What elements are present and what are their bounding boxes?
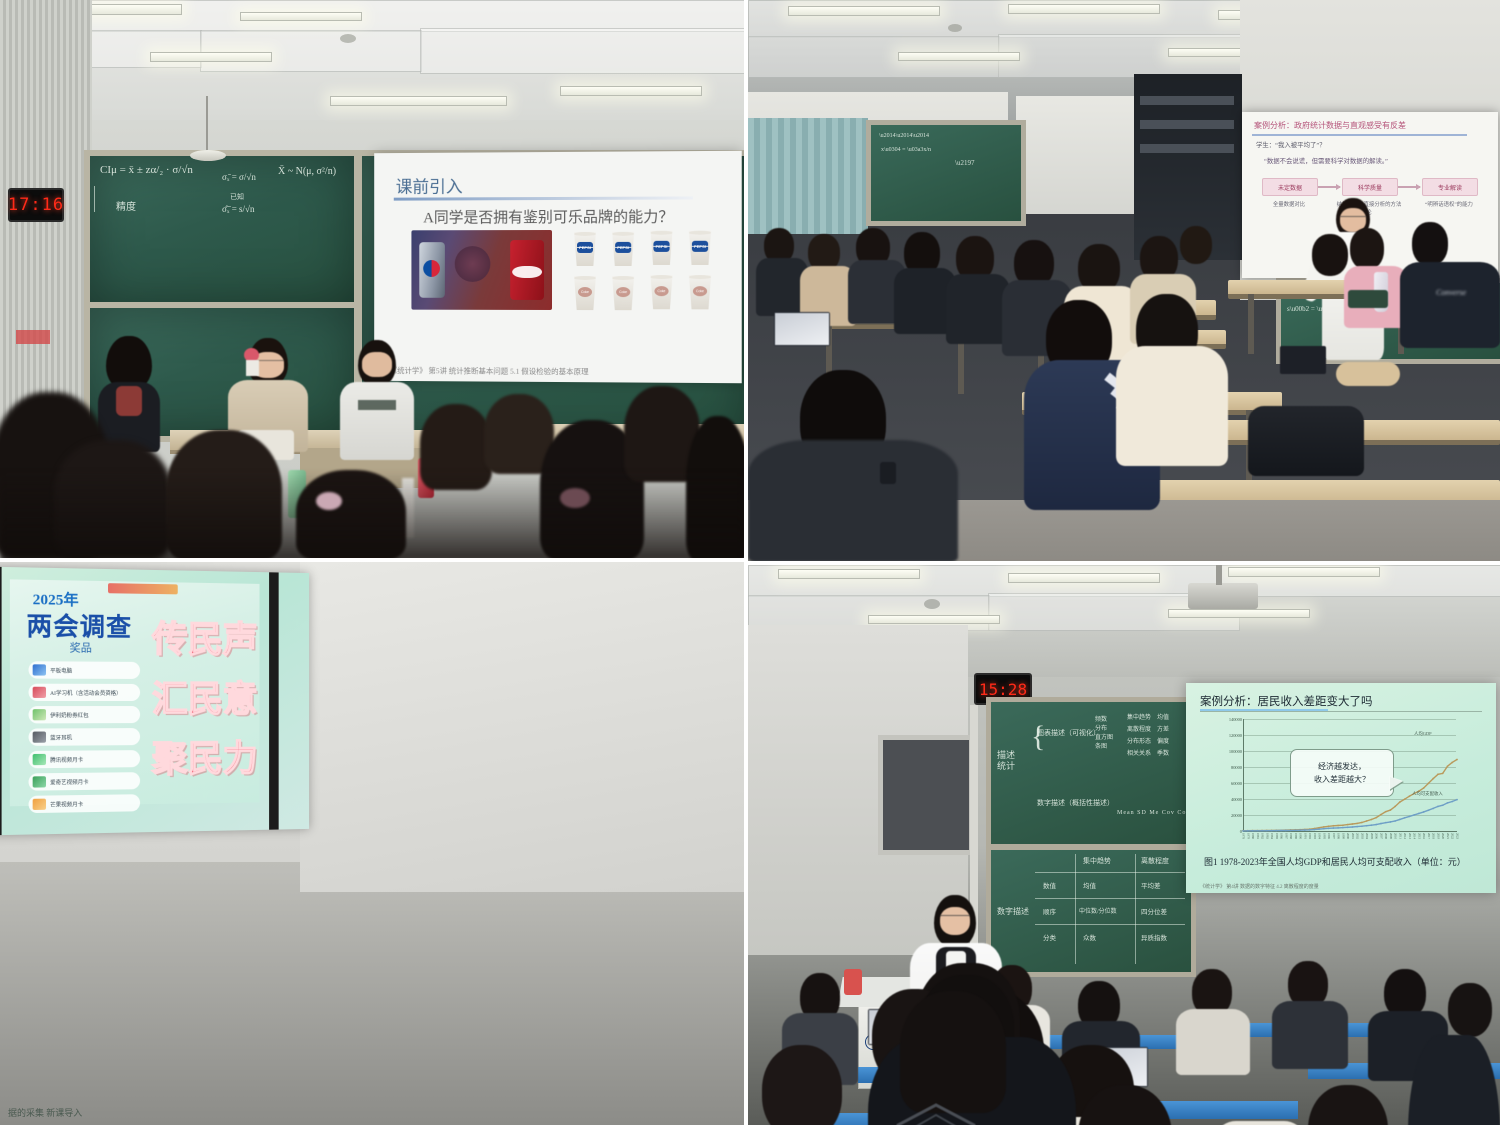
student-head-front — [900, 991, 1006, 1113]
wall-clock-tl: 17:16 — [8, 188, 64, 222]
x-tick: 2016 — [1422, 833, 1426, 839]
cola-photo — [411, 230, 552, 310]
thermos — [844, 969, 862, 995]
cup-logo-pepsi: PEPSI — [653, 241, 669, 252]
student-head — [1448, 983, 1492, 1037]
x-tick: 2008 — [1384, 833, 1388, 839]
slide-title-tl: 课前引入 — [396, 173, 463, 198]
slogan-line-2: 汇民意 — [152, 670, 258, 722]
x-tick: 1997 — [1332, 833, 1336, 839]
income-gap-chart: 140000 120000 100000 80000 60000 40000 2… — [1216, 719, 1466, 847]
student-head — [1350, 228, 1384, 270]
slide-footer-br: 《统计学》 第4讲 数据的数字特征 4.2 离散程度的度量 — [1200, 883, 1319, 890]
prize-item: AI学习机（含活动会员资格） — [29, 684, 141, 701]
chalk-formula-3: X̄ ~ N(μ, σ²/n) — [278, 166, 336, 177]
x-tick: 1982 — [1261, 833, 1265, 839]
series-label-gdp: 人均GDP — [1414, 731, 1432, 737]
x-tick: 2007 — [1379, 833, 1383, 839]
screen-title: 两会调查 — [26, 606, 132, 644]
projection-screen-tl: 课前引入 A同学是否拥有鉴别可乐品牌的能力？ PEPSI PEPSI PEPSI… — [374, 151, 742, 383]
x-tick: 1999 — [1341, 833, 1345, 839]
panel-bottom-right: 15:28 描述统计 图表描述（可视化） 数字描述（概括性描述） { 频数分布直… — [748, 565, 1500, 1125]
cup-logo-coke: Coke — [654, 286, 668, 296]
slide-title-br: 案例分析：居民收入差距变大了吗 — [1200, 693, 1373, 709]
projection-screen-bl: 2025年 两会调查 奖品 平板电脑 AI学习机（含活动会员资格） 伊利奶粉券红… — [0, 567, 309, 836]
x-tick: 1981 — [1256, 833, 1260, 839]
backpack — [1248, 406, 1364, 476]
x-tick: 1988 — [1289, 833, 1293, 839]
x-tick: 1990 — [1299, 833, 1303, 839]
prize-item: 芒果视频月卡 — [29, 794, 141, 813]
panel-bottom-left: 2025年 两会调查 奖品 平板电脑 AI学习机（含活动会员资格） 伊利奶粉券红… — [0, 562, 744, 1125]
cup-logo-coke: Coke — [578, 287, 592, 297]
x-tick: 2009 — [1389, 833, 1393, 839]
blackboard-tr: \u2014\u2014\u2014 x\u0304 = \u03a3x/n \… — [866, 120, 1026, 226]
wall-panel — [878, 735, 974, 855]
x-tick: 2020 — [1441, 833, 1445, 839]
pp-logo-icon: PP — [888, 1101, 984, 1125]
chalk-note-jingdu: 精度 — [116, 198, 136, 213]
chalk-th-2: 离散程度 — [1141, 856, 1169, 866]
slide-title-tr: 案例分析：政府统计数据与直观感受有反差 — [1254, 120, 1406, 131]
chart-caption: 图1 1978-2023年全国人均GDP和居民人均可支配收入（单位：元） — [1204, 855, 1466, 868]
cup-logo-pepsi: PEPSI — [692, 241, 708, 252]
chalk-td: 均值 — [1083, 880, 1096, 890]
x-tick: 1987 — [1284, 833, 1288, 839]
x-tick: 2006 — [1375, 833, 1379, 839]
x-tick: 1998 — [1337, 833, 1341, 839]
student-right-body — [340, 382, 414, 460]
student-body — [1176, 1009, 1250, 1075]
x-tick: 2004 — [1365, 833, 1369, 839]
converse-logo-text: Converse — [1436, 288, 1484, 298]
x-tick: 2021 — [1446, 833, 1450, 839]
student-converse — [1400, 262, 1500, 348]
chalk-td: 四分位差 — [1141, 906, 1167, 916]
student-body — [1272, 1001, 1348, 1069]
x-tick: 2023 — [1456, 833, 1460, 839]
slogan-line-1: 传民声 — [152, 610, 258, 663]
x-tick: 2011 — [1398, 833, 1402, 839]
x-tick: 1996 — [1327, 833, 1331, 839]
x-tick: 2005 — [1370, 833, 1374, 839]
slide-quote-tr: “数据不会说谎，但需要科学对数据的解读。” — [1264, 156, 1388, 165]
x-tick: 2018 — [1432, 833, 1436, 839]
x-tick: 2022 — [1451, 833, 1455, 839]
x-tick: 1993 — [1313, 833, 1317, 839]
x-tick: 1980 — [1251, 833, 1255, 839]
x-tick: 1986 — [1280, 833, 1284, 839]
x-tick: 2017 — [1427, 833, 1431, 839]
projector — [1188, 583, 1258, 609]
blackboard-tl-upper: CIμ = x̄ ± zα/₂ · σ/√n σₓ̄ = σ/√n X̄ ~ N… — [84, 150, 360, 310]
x-tick: 2019 — [1436, 833, 1440, 839]
student-body — [946, 274, 1010, 344]
x-tick: 2013 — [1408, 833, 1412, 839]
tablet[interactable] — [1280, 346, 1326, 374]
flow-caption-1: 全量数据对比 — [1256, 200, 1322, 208]
screen-subtitle: 奖品 — [70, 639, 92, 655]
slide-question-tl: A同学是否拥有鉴别可乐品牌的能力？ — [423, 206, 673, 228]
chalk-td: 异质指数 — [1141, 932, 1167, 942]
student-head — [1312, 234, 1348, 276]
clock-time-br: 15:28 — [979, 680, 1027, 699]
chalk-note-known: 已知 — [230, 192, 244, 202]
student-body-front — [748, 440, 958, 561]
x-tick: 1985 — [1275, 833, 1279, 839]
chalk-formula-1: CIμ = x̄ ± zα/₂ · σ/√n — [100, 164, 193, 176]
chalk-td: 平均差 — [1141, 880, 1161, 890]
x-tick: 2001 — [1351, 833, 1355, 839]
x-tick: 2002 — [1356, 833, 1360, 839]
x-tick: 1979 — [1246, 833, 1250, 839]
x-tick: 2012 — [1403, 833, 1407, 839]
student-head-front — [762, 1045, 842, 1125]
slide-footer-tl: 《统计学》 第5讲 统计推断基本问题 5.1 假设检验的基本原理 — [390, 365, 589, 377]
panel-top-left: 17:16 CIμ = x̄ ± zα/₂ · σ/√n σₓ̄ = σ/√n … — [0, 0, 744, 558]
chalk-th-1: 集中趋势 — [1083, 856, 1111, 866]
x-tick: 1984 — [1270, 833, 1274, 839]
panel-top-right: \u2014\u2014\u2014 x\u0304 = \u03a3x/n \… — [748, 0, 1500, 561]
chalk-td: 顺序 — [1043, 906, 1056, 916]
screen-footer-bl: 据的采集 新课导入 — [8, 1106, 82, 1119]
tablet[interactable] — [774, 312, 830, 346]
x-tick: 2015 — [1417, 833, 1421, 839]
cup-logo-coke: Coke — [693, 286, 707, 296]
prize-item: 爱奇艺视频月卡 — [29, 772, 141, 791]
flow-box-1: 未定数据 — [1262, 178, 1318, 196]
chalk-branch-2: 数字描述（概括性描述） — [1037, 798, 1114, 808]
photo-collage: 17:16 CIμ = x̄ ± zα/₂ · σ/√n σₓ̄ = σ/√n … — [0, 0, 1500, 1125]
clock-time-tl: 17:16 — [8, 195, 64, 215]
flow-box-3: 专业解读 — [1422, 178, 1478, 196]
x-tick: 1991 — [1303, 833, 1307, 839]
chalk-td: 分类 — [1043, 932, 1056, 942]
x-tick: 1994 — [1318, 833, 1322, 839]
x-tick: 2010 — [1394, 833, 1398, 839]
x-tick: 2000 — [1346, 833, 1350, 839]
cup-logo-pepsi: PEPSI — [577, 242, 593, 253]
flow-caption-3: “明辨话语权”的能力 — [1416, 200, 1482, 208]
chalk-formula-4: σ̂ₓ̄ = s/√n — [222, 204, 254, 214]
x-tick: 2014 — [1413, 833, 1417, 839]
blackboard-br-upper: 描述统计 图表描述（可视化） 数字描述（概括性描述） { 频数分布直方图条图 集… — [986, 697, 1196, 849]
x-tick: 1983 — [1265, 833, 1269, 839]
prize-item: 伊利奶粉券红包 — [29, 706, 141, 723]
slide-subtitle-tr: 学生：“我入被平均了”？ — [1256, 140, 1326, 149]
x-tick: 1989 — [1294, 833, 1298, 839]
chalk-td: 数值 — [1043, 880, 1056, 890]
blackboard-br-lower: 数字描述 集中趋势 离散程度 数值 均值 平均差 顺序 中位数/分位数 四分位差… — [986, 845, 1196, 977]
x-tick: 1995 — [1322, 833, 1326, 839]
chalk-td: 众数 — [1083, 932, 1096, 942]
prize-item: 腾讯视频月卡 — [29, 750, 141, 768]
chalk-formula-2: σₓ̄ = σ/√n — [222, 172, 256, 182]
cup-logo-coke: Coke — [616, 287, 630, 297]
chart-callout: 经济越发达， 收入差距越大？ — [1290, 749, 1394, 797]
series-label-income: 人均可支配收入 — [1412, 791, 1443, 797]
cup-logo-pepsi: PEPSI — [615, 242, 631, 253]
prize-item: 蓝牙耳机 — [29, 728, 141, 746]
slogan-line-3: 聚民力 — [152, 730, 258, 782]
chalk-td: 中位数/分位数 — [1079, 906, 1117, 915]
chalk-branch-1: 图表描述（可视化） — [1037, 728, 1100, 738]
flow-box-2: 科学质量 — [1342, 178, 1398, 196]
chalk-table-label: 数字描述 — [997, 906, 1029, 917]
x-tick: 1992 — [1308, 833, 1312, 839]
x-tick: 1978 — [1242, 833, 1246, 839]
projection-screen-br: 案例分析：居民收入差距变大了吗 140000 120000 100000 800… — [1186, 683, 1496, 893]
student-cream-puffer — [1116, 346, 1228, 466]
x-tick: 2003 — [1360, 833, 1364, 839]
prize-item: 平板电脑 — [29, 661, 141, 679]
